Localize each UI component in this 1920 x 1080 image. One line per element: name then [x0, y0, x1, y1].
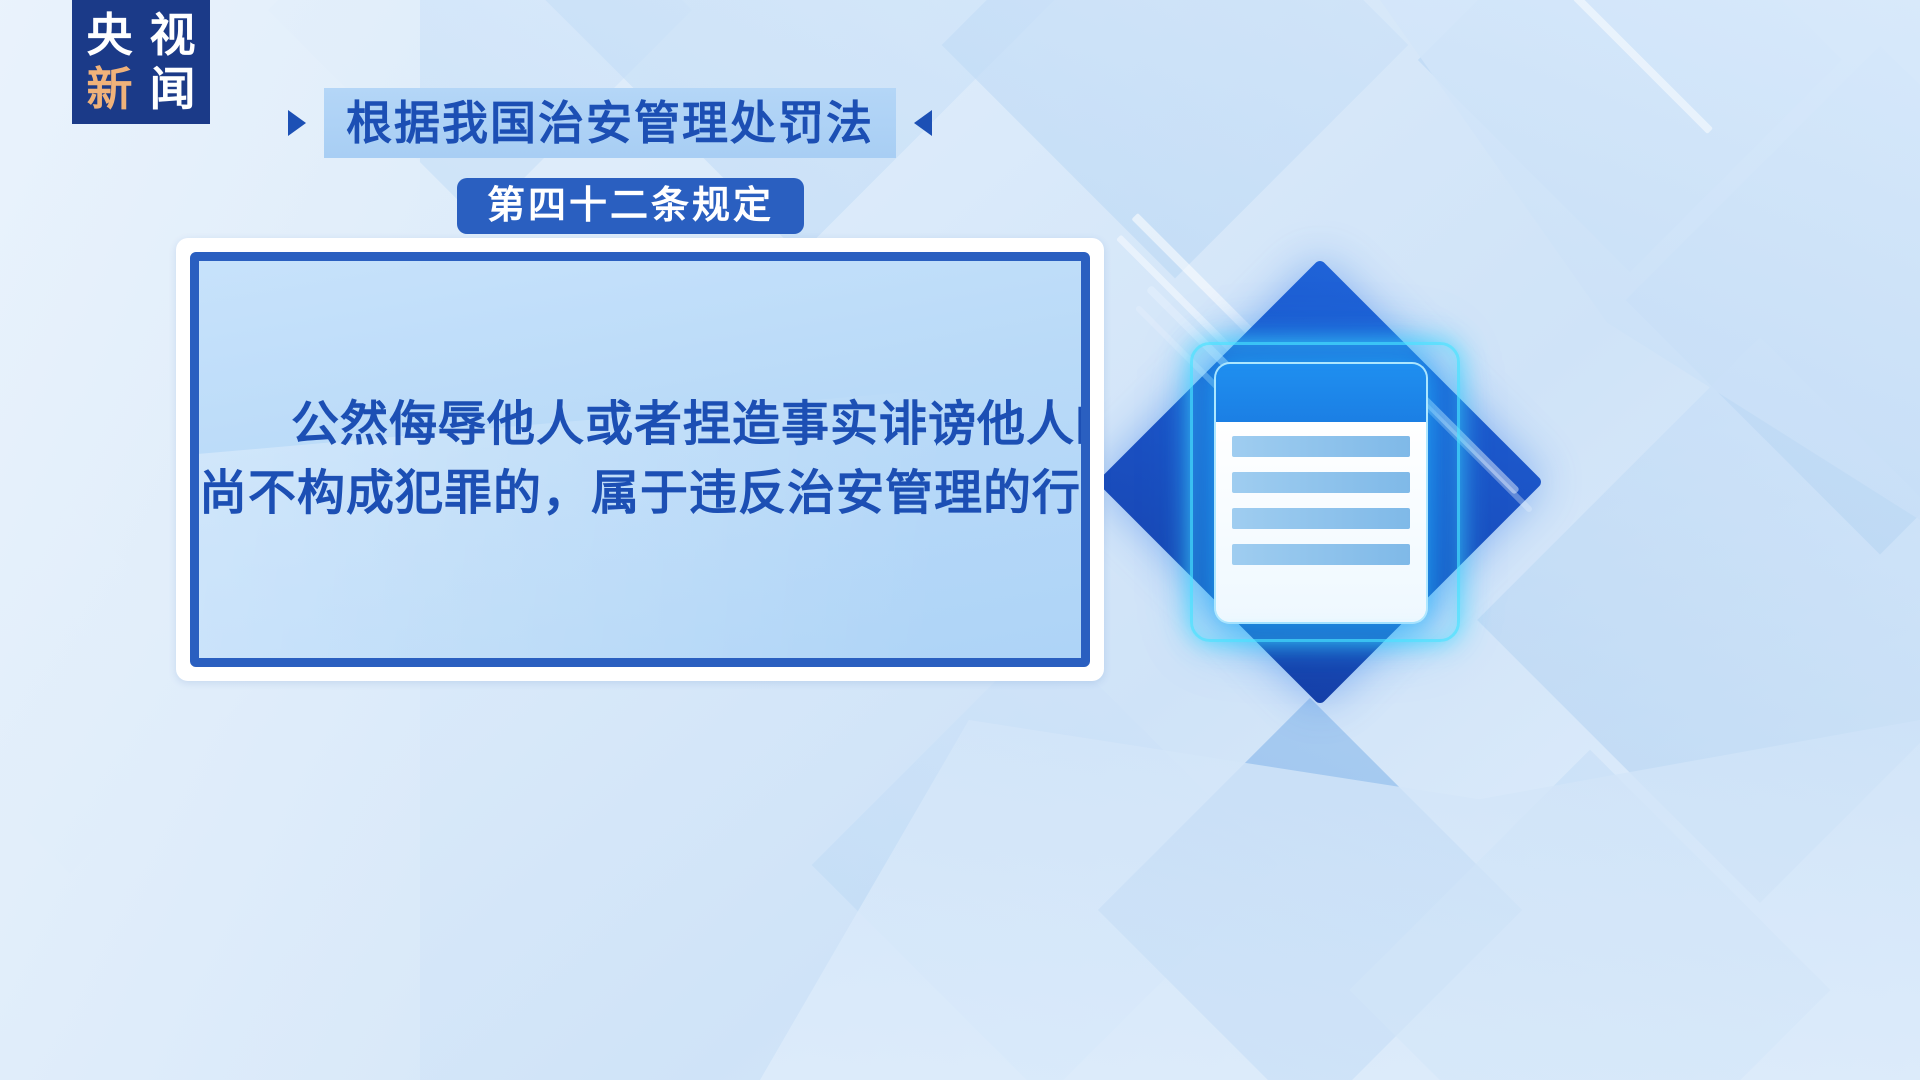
background-chevron-6 — [1477, 337, 1920, 903]
document-icon — [1214, 362, 1428, 624]
document-lines — [1216, 422, 1426, 624]
quote-card: 公然侮辱他人或者捏造事实诽谤他人的， 尚不构成犯罪的，属于违反治安管理的行为。 — [190, 252, 1090, 667]
quote-card-frame: 公然侮辱他人或者捏造事实诽谤他人的， 尚不构成犯罪的，属于违反治安管理的行为。 — [176, 238, 1104, 681]
document-line — [1232, 472, 1410, 493]
document-line — [1232, 544, 1410, 565]
background-chevron-8 — [1098, 698, 1522, 1080]
article-badge-label: 第四十二条规定 — [487, 187, 774, 225]
logo-char-xin: 新 — [87, 66, 133, 112]
background-facet-bottom — [760, 720, 1920, 1080]
background-chevron-4 — [1418, 0, 1842, 272]
right-triangle-marker-icon — [914, 110, 932, 136]
background-highlight-band-3 — [1573, 0, 1713, 134]
quote-line-2: 尚不构成犯罪的，属于违反治安管理的行为。 — [199, 460, 1081, 528]
headline-band: 根据我国治安管理处罚法 — [324, 88, 896, 158]
quote-line-1: 公然侮辱他人或者捏造事实诽谤他人的， — [199, 391, 1081, 459]
page-title: 根据我国治安管理处罚法 — [346, 100, 874, 146]
article-badge: 第四十二条规定 — [457, 178, 804, 234]
document-line — [1232, 436, 1410, 457]
background-chevron-3 — [942, 0, 1409, 278]
background-chevron-5 — [1625, 45, 1920, 554]
cctv-news-logo: 央 视 新 闻 — [72, 0, 210, 124]
background-chevron-9 — [1350, 750, 1831, 1080]
left-triangle-marker-icon — [288, 110, 306, 136]
logo-char-wen: 闻 — [150, 66, 196, 112]
logo-char-shi: 视 — [150, 12, 196, 58]
document-header-bar — [1216, 364, 1426, 422]
document-line — [1232, 508, 1410, 529]
logo-char-yang: 央 — [87, 12, 133, 58]
headline-row: 根据我国治安管理处罚法 — [288, 88, 932, 158]
document-emblem — [1100, 262, 1540, 702]
news-graphic-canvas: 央 视 新 闻 根据我国治安管理处罚法 第四十二条规定 公然侮辱他人或者捏造事实… — [0, 0, 1920, 1080]
